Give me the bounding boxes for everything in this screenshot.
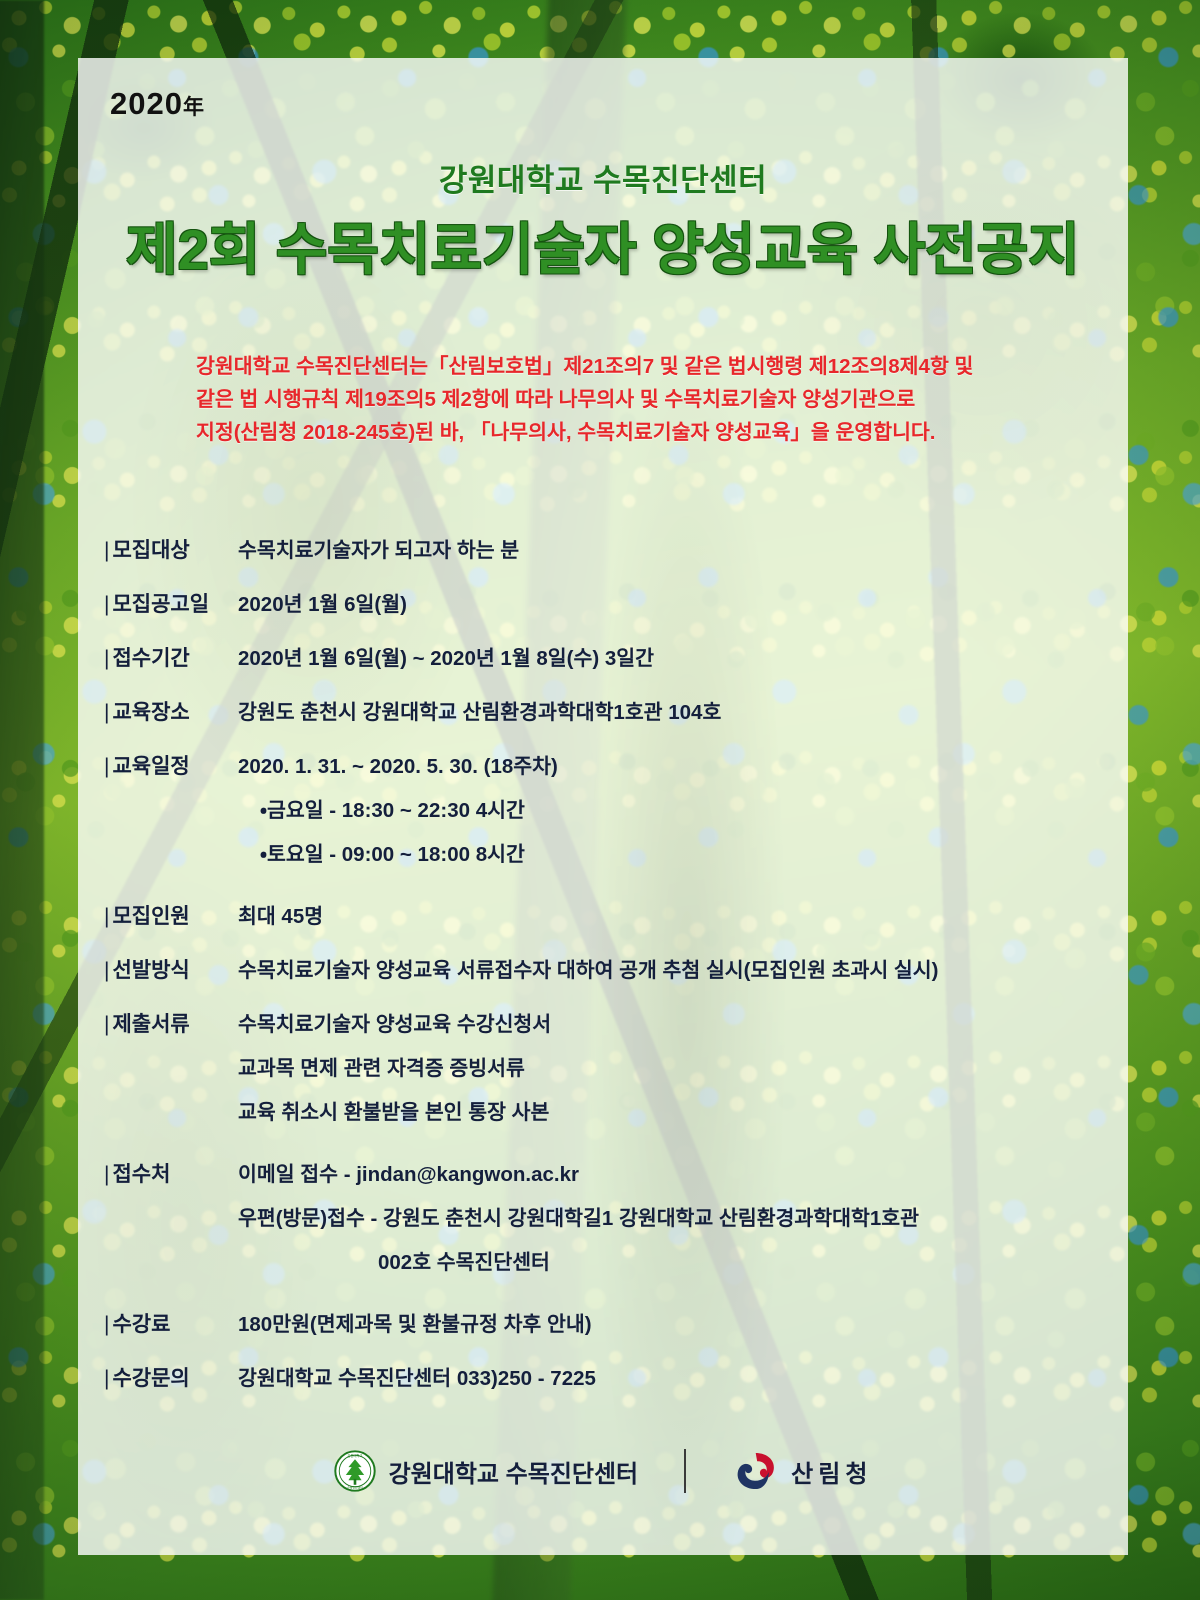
detail-row-value-line: 교육 취소시 환불받을 본인 통장 사본 <box>238 1098 551 1128</box>
detail-row: |선발방식수목치료기술자 양성교육 서류접수자 대하여 공개 추첨 실시(모집인… <box>104 956 1114 986</box>
detail-row: |교육장소강원도 춘천시 강원대학교 산림환경과학대학1호관 104호 <box>104 698 1114 728</box>
detail-row: |교육일정2020. 1. 31. ~ 2020. 5. 30. (18주차)・… <box>104 752 1114 870</box>
detail-row-label-text: 접수처 <box>112 1163 170 1186</box>
detail-row-value: 수목치료기술자가 되고자 하는 분 <box>234 536 519 566</box>
year-number: 2020 <box>110 86 183 121</box>
forest-service-label: 산림청 <box>791 1454 872 1489</box>
detail-row-value-line: 002호 수목진단센터 <box>238 1248 919 1278</box>
detail-row-label: |수강문의 <box>104 1364 234 1394</box>
detail-row-label-text: 선발방식 <box>112 959 189 982</box>
detail-row-value: 최대 45명 <box>234 902 323 932</box>
label-bar-icon: | <box>104 539 109 562</box>
year-heading: 2020年 <box>110 86 205 122</box>
detail-row-label: |수강료 <box>104 1310 234 1340</box>
detail-row-value-line: ・금요일 - 18:30 ~ 22:30 4시간 <box>238 796 558 826</box>
detail-row-value-line: 수목치료기술자 양성교육 수강신청서 <box>238 1010 551 1040</box>
footer-divider <box>684 1449 686 1493</box>
poster-root: 2020年 강원대학교 수목진단센터 제2회 수목치료기술자 양성교육 사전공지… <box>0 0 1200 1600</box>
detail-row-value: 수목치료기술자 양성교육 서류접수자 대하여 공개 추첨 실시(모집인원 초과시… <box>234 956 938 986</box>
svg-text:수목진단센터: 수목진단센터 <box>347 1485 363 1490</box>
detail-row-label: |선발방식 <box>104 956 234 986</box>
detail-row: |접수기간2020년 1월 6일(월) ~ 2020년 1월 8일(수) 3일간 <box>104 644 1114 674</box>
label-bar-icon: | <box>104 701 109 724</box>
detail-row-value-line: 교과목 면제 관련 자격증 증빙서류 <box>238 1054 551 1084</box>
detail-row-value-line: 강원도 춘천시 강원대학교 산림환경과학대학1호관 104호 <box>238 698 721 728</box>
detail-row-value: 180만원(면제과목 및 환불규정 차후 안내) <box>234 1310 592 1340</box>
detail-row-value-line: 최대 45명 <box>238 902 323 932</box>
detail-row-value-line: 이메일 접수 - jindan@kangwon.ac.kr <box>238 1160 919 1190</box>
label-bar-icon: | <box>104 647 109 670</box>
detail-row-value-line: 2020년 1월 6일(월) ~ 2020년 1월 8일(수) 3일간 <box>238 644 654 674</box>
detail-row-value-line: 수목치료기술자 양성교육 서류접수자 대하여 공개 추첨 실시(모집인원 초과시… <box>238 956 938 986</box>
intro-line-1: 강원대학교 수목진단센터는「산림보호법」제21조의7 및 같은 법시행령 제12… <box>196 350 1026 383</box>
detail-row-label: |모집대상 <box>104 536 234 566</box>
detail-row-value: 2020년 1월 6일(월) ~ 2020년 1월 8일(수) 3일간 <box>234 644 654 674</box>
detail-row-value-line: 180만원(면제과목 및 환불규정 차후 안내) <box>238 1310 592 1340</box>
detail-row-label: |접수기간 <box>104 644 234 674</box>
page-title: 제2회 수목치료기술자 양성교육 사전공지 <box>78 205 1128 286</box>
detail-row-label: |접수처 <box>104 1160 234 1190</box>
kangwon-logo-label: 강원대학교 수목진단센터 <box>389 1454 639 1489</box>
intro-line-3: 지정(산림청 2018-245호)된 바, 「나무의사, 수목치료기술자 양성교… <box>196 416 1026 449</box>
detail-row-value-line: ・토요일 - 09:00 ~ 18:00 8시간 <box>238 840 558 870</box>
detail-row-label-text: 모집인원 <box>112 905 189 928</box>
detail-row-value: 수목치료기술자 양성교육 수강신청서교과목 면제 관련 자격증 증빙서류교육 취… <box>234 1010 551 1128</box>
label-bar-icon: | <box>104 593 109 616</box>
footer-logos: 강원대학교 수목진단센터 강원대학교 수목진단센터 산림청 <box>78 1449 1128 1493</box>
label-bar-icon: | <box>104 1013 109 1036</box>
year-kanji: 年 <box>183 96 205 119</box>
detail-row-value-line: 2020. 1. 31. ~ 2020. 5. 30. (18주차) <box>238 752 558 782</box>
detail-row: |제출서류수목치료기술자 양성교육 수강신청서교과목 면제 관련 자격증 증빙서… <box>104 1010 1114 1128</box>
organization-subtitle: 강원대학교 수목진단센터 <box>78 155 1128 200</box>
detail-row-label-text: 수강료 <box>112 1313 170 1336</box>
kangwon-tree-emblem-icon: 강원대학교 수목진단센터 <box>334 1450 376 1492</box>
detail-row-label: |교육일정 <box>104 752 234 782</box>
label-bar-icon: | <box>104 1367 109 1390</box>
forest-service-taegeuk-icon <box>732 1450 778 1492</box>
forest-service-logo-group: 산림청 <box>732 1450 872 1492</box>
detail-row-label-text: 교육장소 <box>112 701 189 724</box>
intro-paragraph: 강원대학교 수목진단센터는「산림보호법」제21조의7 및 같은 법시행령 제12… <box>196 350 1026 449</box>
detail-row: |접수처이메일 접수 - jindan@kangwon.ac.kr우편(방문)접… <box>104 1160 1114 1278</box>
detail-row-value: 2020년 1월 6일(월) <box>234 590 407 620</box>
detail-row-value-line: 수목치료기술자가 되고자 하는 분 <box>238 536 519 566</box>
detail-row: |모집공고일2020년 1월 6일(월) <box>104 590 1114 620</box>
label-bar-icon: | <box>104 1163 109 1186</box>
detail-row-label: |제출서류 <box>104 1010 234 1040</box>
detail-row-value-line: 강원대학교 수목진단센터 033)250 - 7225 <box>238 1364 596 1394</box>
detail-row-label-text: 수강문의 <box>112 1367 189 1390</box>
detail-row-label-text: 모집대상 <box>112 539 189 562</box>
label-bar-icon: | <box>104 755 109 778</box>
detail-row-label-text: 접수기간 <box>112 647 189 670</box>
detail-row: |모집대상수목치료기술자가 되고자 하는 분 <box>104 536 1114 566</box>
label-bar-icon: | <box>104 1313 109 1336</box>
detail-row-value-line: 2020년 1월 6일(월) <box>238 590 407 620</box>
label-bar-icon: | <box>104 959 109 982</box>
detail-row: |수강료180만원(면제과목 및 환불규정 차후 안내) <box>104 1310 1114 1340</box>
label-bar-icon: | <box>104 905 109 928</box>
detail-row: |모집인원최대 45명 <box>104 902 1114 932</box>
detail-row-label: |모집인원 <box>104 902 234 932</box>
detail-row-label: |모집공고일 <box>104 590 234 620</box>
detail-row-value: 이메일 접수 - jindan@kangwon.ac.kr우편(방문)접수 - … <box>234 1160 919 1278</box>
detail-row-label: |교육장소 <box>104 698 234 728</box>
kangwon-logo-group: 강원대학교 수목진단센터 강원대학교 수목진단센터 <box>334 1450 639 1492</box>
svg-text:강원대학교: 강원대학교 <box>347 1453 362 1458</box>
detail-row-value: 강원대학교 수목진단센터 033)250 - 7225 <box>234 1364 596 1394</box>
intro-line-2: 같은 법 시행규칙 제19조의5 제2항에 따라 나무의사 및 수목치료기술자 … <box>196 383 1026 416</box>
detail-rows: |모집대상수목치료기술자가 되고자 하는 분|모집공고일2020년 1월 6일(… <box>104 536 1114 1418</box>
detail-row-value-line: 우편(방문)접수 - 강원도 춘천시 강원대학길1 강원대학교 산림환경과학대학… <box>238 1204 919 1234</box>
detail-row: |수강문의강원대학교 수목진단센터 033)250 - 7225 <box>104 1364 1114 1394</box>
detail-row-label-text: 교육일정 <box>112 755 189 778</box>
content-panel: 2020年 강원대학교 수목진단센터 제2회 수목치료기술자 양성교육 사전공지… <box>78 58 1128 1555</box>
detail-row-label-text: 모집공고일 <box>112 593 209 616</box>
detail-row-label-text: 제출서류 <box>112 1013 189 1036</box>
detail-row-value: 강원도 춘천시 강원대학교 산림환경과학대학1호관 104호 <box>234 698 721 728</box>
detail-row-value: 2020. 1. 31. ~ 2020. 5. 30. (18주차)・금요일 -… <box>234 752 558 870</box>
